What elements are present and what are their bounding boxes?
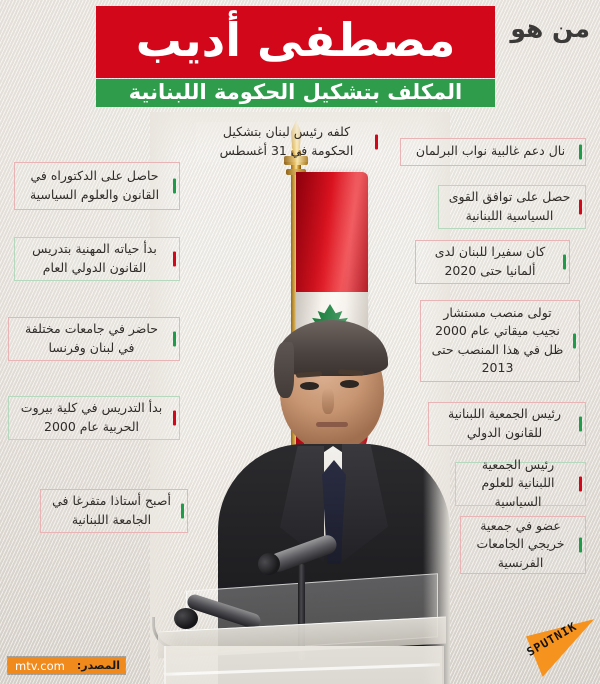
right-fact-2: حصل على توافق القوى السياسية اللبنانية bbox=[438, 185, 586, 229]
left-fact-3-text: حاضر في جامعات مختلفة في لبنان وفرنسا bbox=[17, 320, 171, 356]
left-fact-1: حاصل على الدكتوراه في القانون والعلوم ال… bbox=[14, 162, 180, 210]
right-fact-3-text: كان سفيرا للبنان لدى ألمانيا حتى 2020 bbox=[424, 243, 561, 279]
bullet-marker bbox=[173, 252, 176, 267]
source-label: المصدر: bbox=[72, 657, 125, 674]
bullet-marker bbox=[579, 538, 582, 553]
left-fact-2: بدأ حياته المهنية بتدريس القانون الدولي … bbox=[14, 237, 180, 281]
eye-left bbox=[300, 382, 319, 390]
left-fact-5-text: أصبح أستاذا متفرغا في الجامعة اللبنانية bbox=[49, 492, 179, 528]
bullet-marker bbox=[579, 477, 582, 492]
right-fact-2-text: حصل على توافق القوى السياسية اللبنانية bbox=[447, 188, 577, 224]
right-fact-1: نال دعم غالبية نواب البرلمان bbox=[400, 138, 586, 166]
infographic-page: من هو مصطفى أديب المكلف بتشكيل الحكومة ا… bbox=[0, 0, 600, 684]
left-fact-2-text: بدأ حياته المهنية بتدريس القانون الدولي … bbox=[23, 240, 171, 276]
bullet-marker bbox=[573, 334, 576, 349]
bullet-marker bbox=[181, 504, 184, 519]
left-fact-5: أصبح أستاذا متفرغا في الجامعة اللبنانية bbox=[40, 489, 188, 533]
right-fact-3: كان سفيرا للبنان لدى ألمانيا حتى 2020 bbox=[415, 240, 570, 284]
right-fact-1-text: نال دعم غالبية نواب البرلمان bbox=[409, 142, 577, 160]
bullet-marker bbox=[173, 411, 176, 426]
bullet-marker bbox=[579, 417, 582, 432]
right-fact-7-text: عضو في جمعية خريجي الجامعات الفرنسية bbox=[469, 517, 577, 571]
right-fact-6-text: رئيس الجمعية اللبنانية للعلوم السياسية bbox=[464, 456, 577, 510]
nose bbox=[322, 388, 334, 414]
right-fact-4-text: تولى منصب مستشار نجيب ميقاتي عام 2000 ظل… bbox=[429, 304, 571, 377]
left-fact-1-text: حاصل على الدكتوراه في القانون والعلوم ال… bbox=[23, 167, 171, 203]
name-text: مصطفى أديب bbox=[136, 17, 456, 63]
right-fact-5: رئيس الجمعية اللبنانية للقانون الدولي bbox=[428, 402, 586, 446]
bullet-marker bbox=[173, 332, 176, 347]
who-is-label: من هو bbox=[510, 14, 590, 43]
bullet-marker bbox=[579, 200, 582, 215]
eye-right bbox=[340, 380, 359, 388]
header: من هو مصطفى أديب المكلف بتشكيل الحكومة ا… bbox=[0, 0, 600, 112]
source-value: mtv.com bbox=[8, 657, 72, 674]
center-caption-text: كلفه رئيس لبنان بتشكيل الحكومة في 31 أغس… bbox=[205, 123, 373, 159]
hair-side bbox=[274, 342, 294, 398]
sputnik-logo: SPUTNIK bbox=[504, 602, 596, 680]
right-fact-7: عضو في جمعية خريجي الجامعات الفرنسية bbox=[460, 516, 586, 574]
speaker-photo bbox=[150, 112, 450, 684]
mouth bbox=[316, 422, 348, 427]
right-fact-5-text: رئيس الجمعية اللبنانية للقانون الدولي bbox=[437, 405, 577, 441]
bullet-marker bbox=[375, 135, 378, 150]
left-fact-3: حاضر في جامعات مختلفة في لبنان وفرنسا bbox=[8, 317, 180, 361]
bullet-marker bbox=[173, 179, 176, 194]
bullet-marker bbox=[579, 145, 582, 160]
source-badge: المصدر: mtv.com bbox=[8, 657, 125, 674]
name-banner: مصطفى أديب bbox=[96, 6, 495, 78]
center-caption-box: كلفه رئيس لبنان بتشكيل الحكومة في 31 أغس… bbox=[196, 122, 382, 162]
bullet-marker bbox=[563, 255, 566, 270]
right-fact-4: تولى منصب مستشار نجيب ميقاتي عام 2000 ظل… bbox=[420, 300, 580, 382]
left-fact-4: بدأ التدريس في كلية بيروت الحربية عام 20… bbox=[8, 396, 180, 440]
subtitle-banner: المكلف بتشكيل الحكومة اللبنانية bbox=[96, 79, 495, 107]
subtitle-text: المكلف بتشكيل الحكومة اللبنانية bbox=[129, 82, 462, 103]
right-fact-6: رئيس الجمعية اللبنانية للعلوم السياسية bbox=[455, 462, 586, 506]
left-fact-4-text: بدأ التدريس في كلية بيروت الحربية عام 20… bbox=[17, 399, 171, 435]
